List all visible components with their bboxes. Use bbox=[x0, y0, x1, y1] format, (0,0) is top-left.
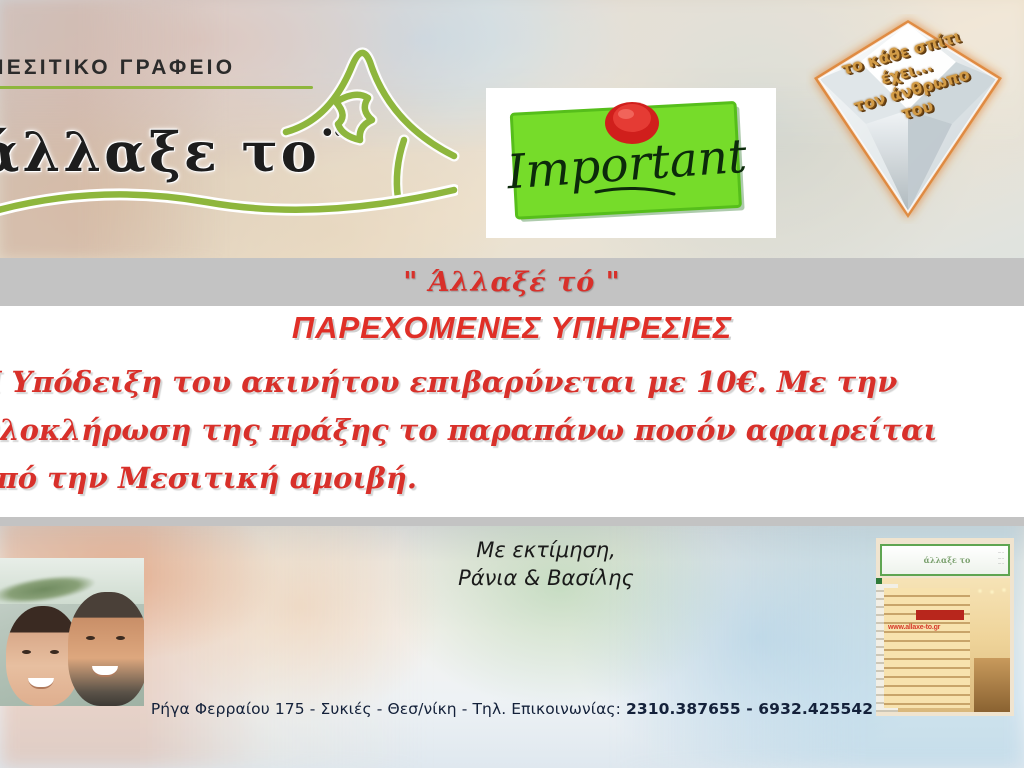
diamond-icon bbox=[806, 14, 1010, 224]
storefront-sign-subtext: ··············· bbox=[998, 550, 1004, 567]
storefront-red-banner bbox=[916, 610, 964, 620]
poster-page: ΜΕΣΙΤΙΚΟ ΓΡΑΦΕΙΟ ¨άλλαξε το¨ bbox=[0, 0, 1024, 768]
face-eye bbox=[116, 636, 125, 640]
services-heading: ΠΑΡΕΧΟΜΕΝΕΣ ΥΠΗΡΕΣΙΕΣ bbox=[0, 310, 1024, 346]
face-eye bbox=[22, 650, 31, 654]
storefront-photo: άλλαξε το ··············· www.allaxe-to.… bbox=[876, 538, 1014, 716]
storefront-website-text: www.allaxe-to.gr bbox=[888, 624, 974, 631]
contact-address: Ρήγα Φερραίου 175 - Συκιές - Θεσ/νίκη - … bbox=[151, 700, 626, 718]
contact-phones: 2310.387655 - 6932.425542 bbox=[626, 700, 873, 718]
contact-line: Ρήγα Φερραίου 175 - Συκιές - Θεσ/νίκη - … bbox=[0, 700, 1024, 718]
couple-photo bbox=[0, 558, 144, 706]
signature-block: Με εκτίμηση, Ράνια & Βασίλης bbox=[396, 536, 696, 592]
footer-divider bbox=[0, 517, 1024, 526]
body-line-1: Η Υπόδειξη του ακινήτου επιβαρύνεται με … bbox=[0, 358, 1014, 406]
signature-line-2: Ράνια & Βασίλης bbox=[396, 564, 696, 592]
face-eye bbox=[86, 636, 95, 640]
signature-line-1: Με εκτίμηση, bbox=[396, 536, 696, 564]
green-swoosh-icon bbox=[0, 172, 458, 258]
storefront-listing-boards bbox=[884, 588, 970, 708]
face-eye bbox=[50, 650, 59, 654]
storefront-ceiling-lights bbox=[972, 584, 1012, 598]
important-note-card: Important bbox=[486, 88, 776, 238]
storefront-sign-text: άλλαξε το bbox=[882, 555, 1012, 565]
body-line-2: Ολοκλήρωση της πράξης το παραπάνω ποσόν … bbox=[0, 406, 1014, 454]
couple-photo-person-right bbox=[68, 592, 144, 706]
important-sticky-note: Important bbox=[500, 96, 764, 230]
company-logo: ΜΕΣΙΤΙΚΟ ΓΡΑΦΕΙΟ ¨άλλαξε το¨ bbox=[0, 42, 448, 212]
header-banner: ΜΕΣΙΤΙΚΟ ΓΡΑΦΕΙΟ ¨άλλαξε το¨ bbox=[0, 0, 1024, 258]
services-body-copy: Η Υπόδειξη του ακινήτου επιβαρύνεται με … bbox=[0, 358, 1014, 502]
logo-underline-rule bbox=[0, 86, 313, 89]
storefront-sign: άλλαξε το ··············· bbox=[880, 544, 1010, 576]
diamond-badge: το κάθε σπίτι έχει... τον άνθρωπο του bbox=[806, 14, 1010, 224]
logo-kicker-text: ΜΕΣΙΤΙΚΟ ΓΡΑΦΕΙΟ bbox=[0, 56, 235, 80]
brand-quote-title: " Άλλαξέ τό " bbox=[0, 258, 1024, 306]
body-line-3: Από την Μεσιτική αμοιβή. bbox=[0, 454, 1014, 502]
